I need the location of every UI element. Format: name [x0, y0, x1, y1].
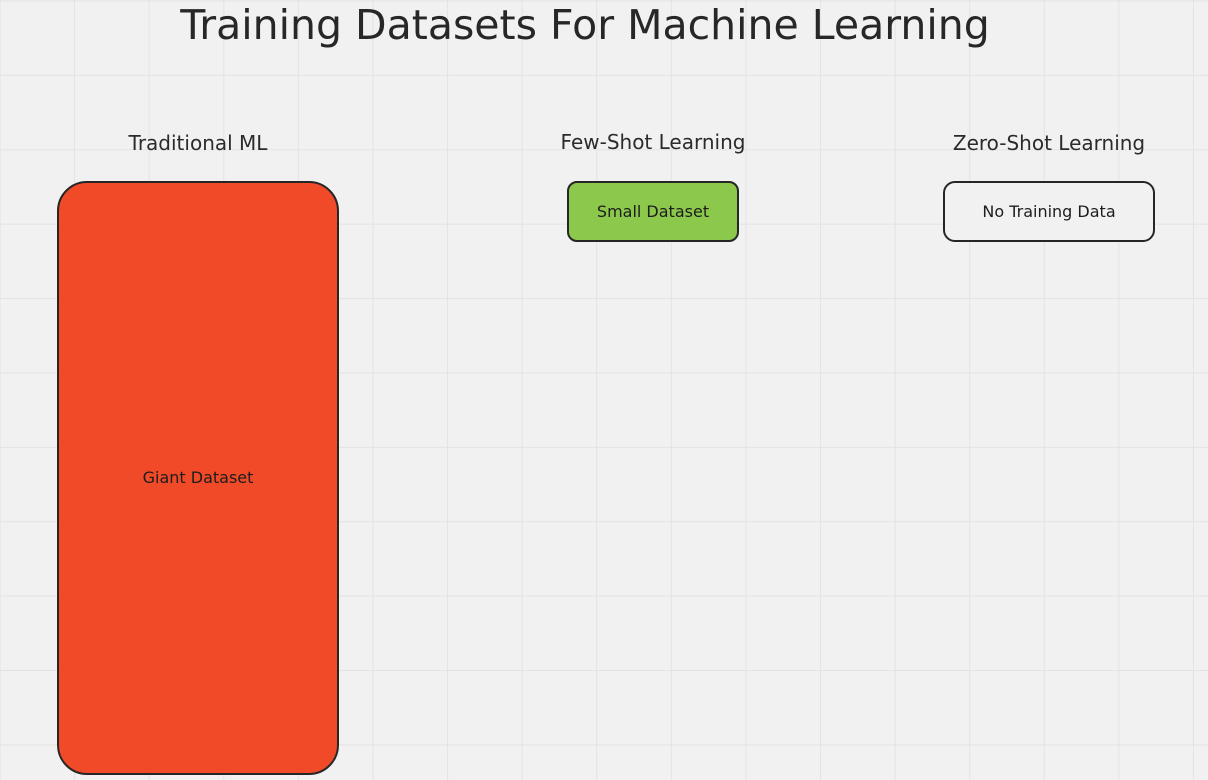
category-label-few-shot-learning: Few-Shot Learning — [539, 132, 767, 152]
bar-label-small-dataset: Small Dataset — [597, 203, 709, 221]
category-label-traditional-ml: Traditional ML — [57, 133, 339, 153]
category-label-zero-shot-learning: Zero-Shot Learning — [943, 133, 1155, 153]
chart-canvas: Training Datasets For Machine Learning T… — [0, 0, 1208, 780]
bar-few-shot-learning[interactable]: Small Dataset — [567, 181, 739, 242]
bar-traditional-ml[interactable]: Giant Dataset — [57, 181, 339, 775]
bar-zero-shot-learning[interactable]: No Training Data — [943, 181, 1155, 242]
chart-title: Training Datasets For Machine Learning — [0, 0, 1170, 50]
bar-label-no-training-data: No Training Data — [982, 203, 1115, 221]
bar-label-giant-dataset: Giant Dataset — [143, 469, 254, 487]
